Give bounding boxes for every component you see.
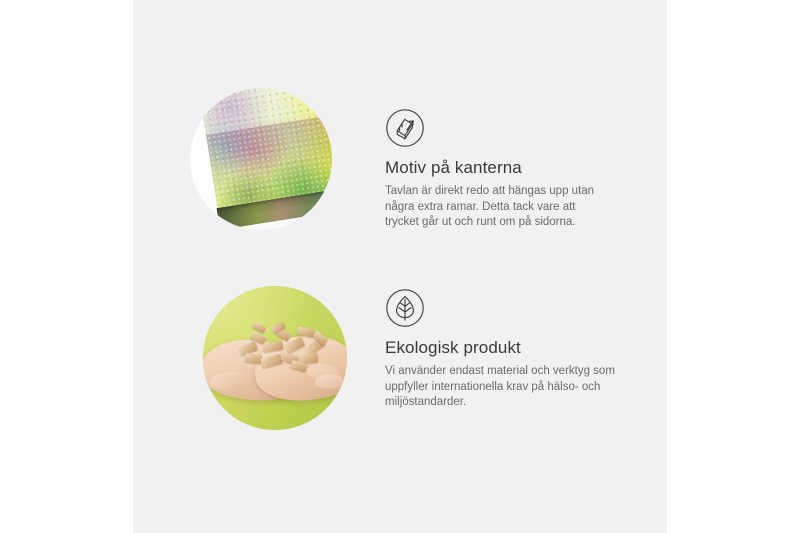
leaf-eco-icon [385,288,425,328]
feature-text-edges: Motiv på kanterna Tavlan är direkt redo … [385,108,594,231]
content-panel [133,0,667,533]
hands-holding-wood-chips-photo [203,286,347,430]
feature-description-line: trycket går ut och runt om på sidorna. [385,215,594,231]
product-info-banner: Motiv på kanterna Tavlan är direkt redo … [0,0,800,533]
feature-description-line: uppfyller internationella krav på hälso-… [385,380,615,396]
canvas-block [198,88,332,220]
feature-description: Vi använder endast material och verktyg … [385,364,615,411]
feature-description-line: Tavlan är direkt redo att hängas upp uta… [385,184,594,200]
feature-description-line: Vi använder endast material och verktyg … [385,364,615,380]
paint-drip-texture [206,111,332,196]
feature-description-line: några extra ramar. Detta tack vare att [385,200,594,216]
wood-chips-pile [237,322,331,374]
feature-text-eco: Ekologisk produkt Vi använder endast mat… [385,288,615,411]
feature-description: Tavlan är direkt redo att hängas upp uta… [385,184,594,231]
canvas-wrapped-edges-icon [385,108,425,148]
feature-title: Motiv på kanterna [385,158,594,178]
feature-title: Ekologisk produkt [385,338,615,358]
canvas-print-on-white-disc-photo [190,88,332,230]
feature-description-line: miljöstandarder. [385,395,615,411]
